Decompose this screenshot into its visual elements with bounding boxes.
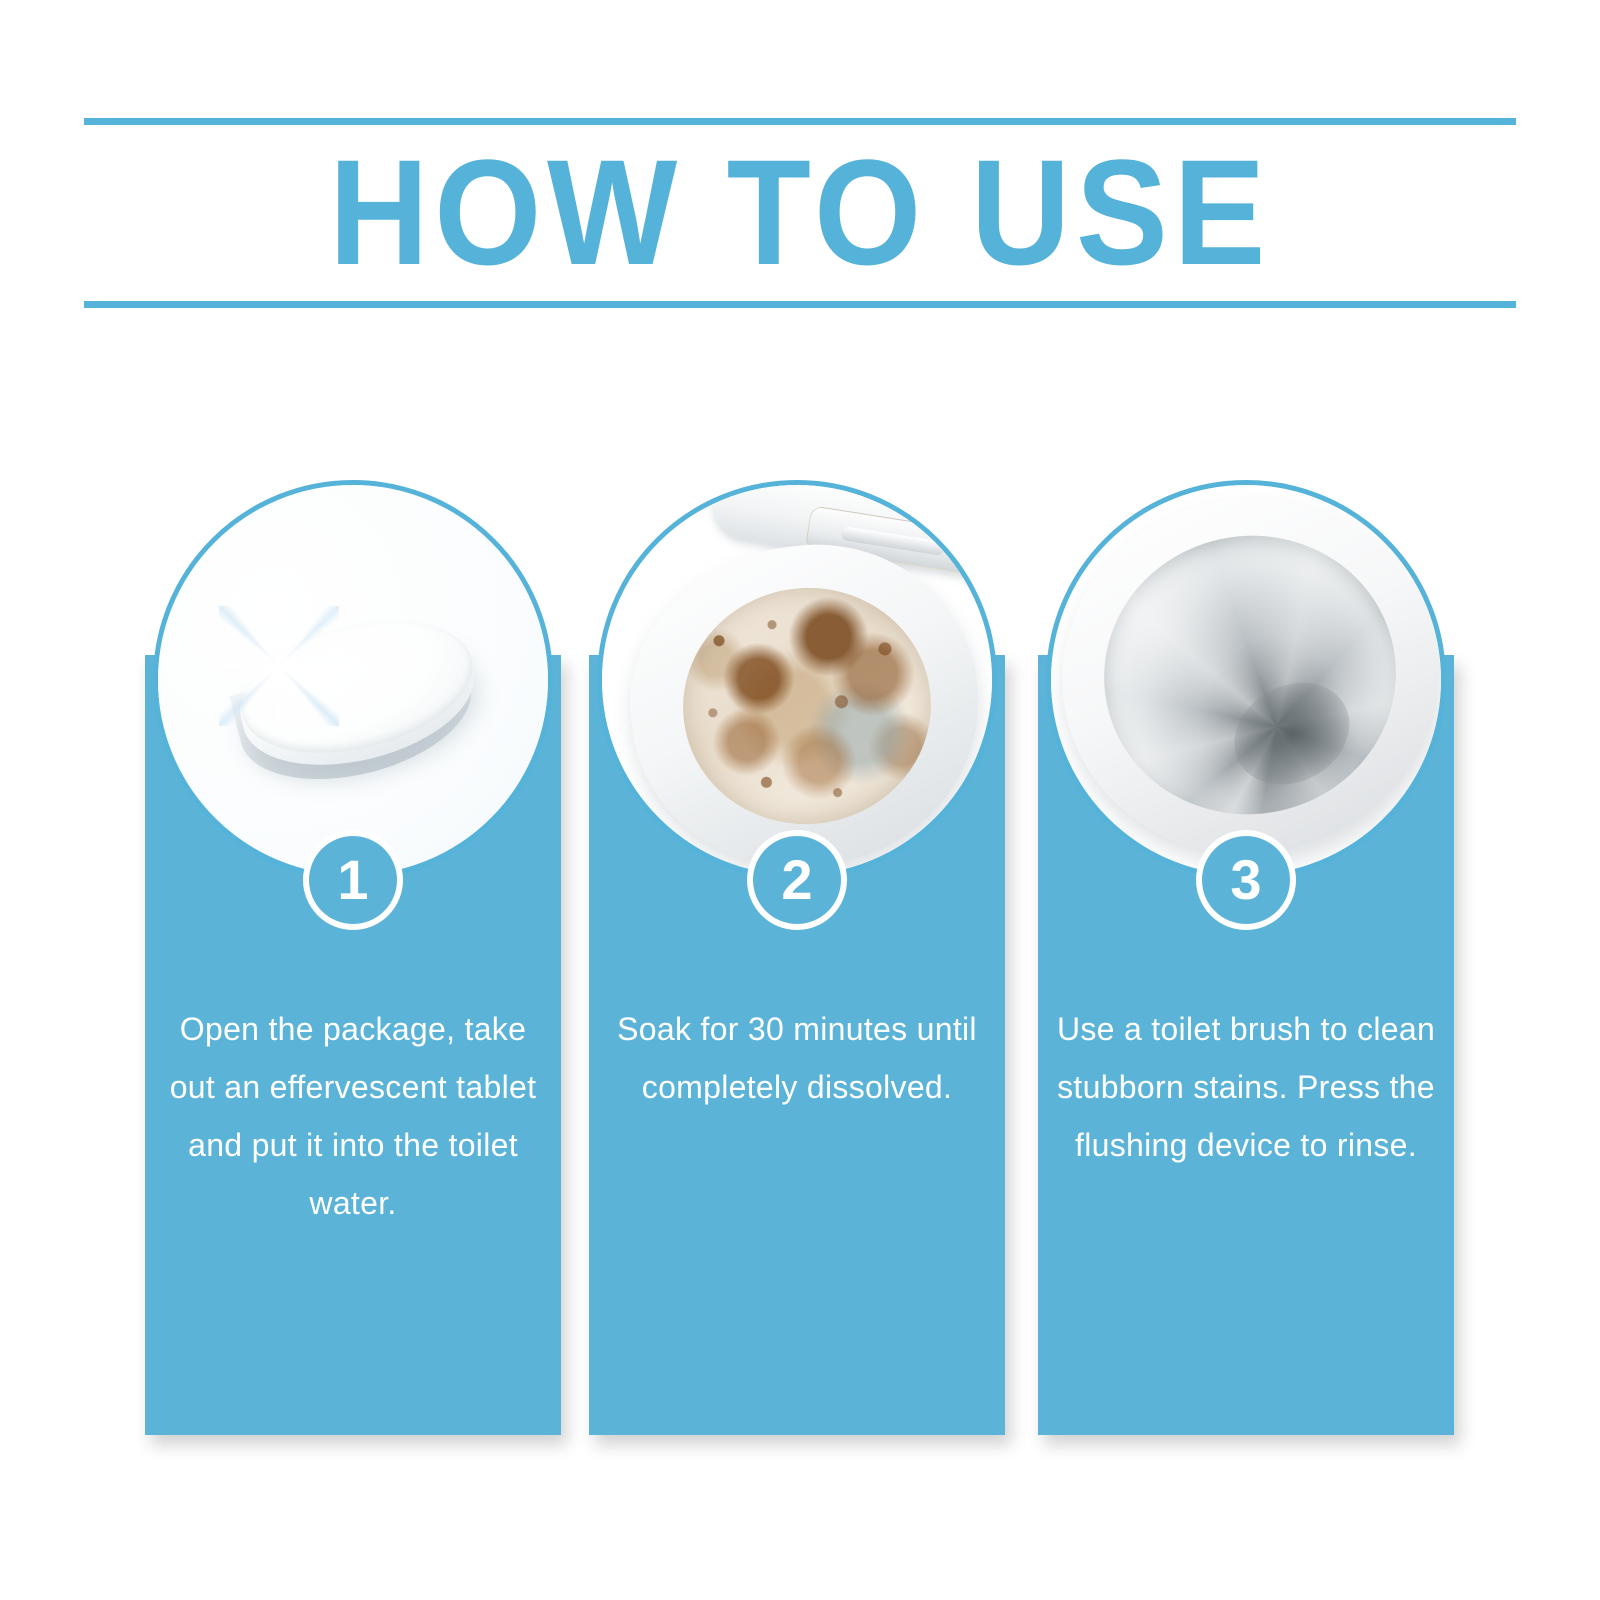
step-2-number-badge: 2 bbox=[747, 830, 847, 930]
step-1-number-badge: 1 bbox=[303, 830, 403, 930]
step-1-number: 1 bbox=[337, 852, 368, 908]
step-3-number: 3 bbox=[1230, 852, 1261, 908]
stained-water-icon bbox=[670, 574, 945, 838]
rust-speckle-icon bbox=[670, 574, 945, 838]
water-swirl-icon bbox=[1082, 513, 1418, 837]
step-card-2: 2 Soak for 30 minutes until completely d… bbox=[589, 480, 1005, 1440]
stained-toilet-bowl-photo bbox=[597, 480, 997, 880]
step-3-number-badge: 3 bbox=[1196, 830, 1296, 930]
effervescent-tablet-photo bbox=[153, 480, 553, 880]
tablet-scene bbox=[153, 480, 553, 880]
dirty-bowl-scene bbox=[597, 480, 997, 880]
step-1-caption: Open the package, take out an effervesce… bbox=[163, 1000, 543, 1232]
steps-container: 1 Open the package, take out an efferves… bbox=[0, 0, 1600, 1600]
step-1-photo-circle bbox=[153, 480, 553, 880]
sparkle-icon bbox=[219, 606, 339, 726]
step-2-caption: Soak for 30 minutes until completely dis… bbox=[607, 1000, 987, 1116]
step-card-1: 1 Open the package, take out an efferves… bbox=[145, 480, 561, 1440]
flushing-clean-toilet-bowl-photo bbox=[1046, 480, 1446, 880]
flush-scene bbox=[1046, 480, 1446, 880]
step-3-caption: Use a toilet brush to clean stubborn sta… bbox=[1056, 1000, 1436, 1174]
step-3-photo-circle bbox=[1046, 480, 1446, 880]
step-card-3: 3 Use a toilet brush to clean stubborn s… bbox=[1038, 480, 1454, 1440]
clean-bowl-icon bbox=[1082, 513, 1418, 837]
step-2-number: 2 bbox=[781, 852, 812, 908]
step-2-photo-circle bbox=[597, 480, 997, 880]
